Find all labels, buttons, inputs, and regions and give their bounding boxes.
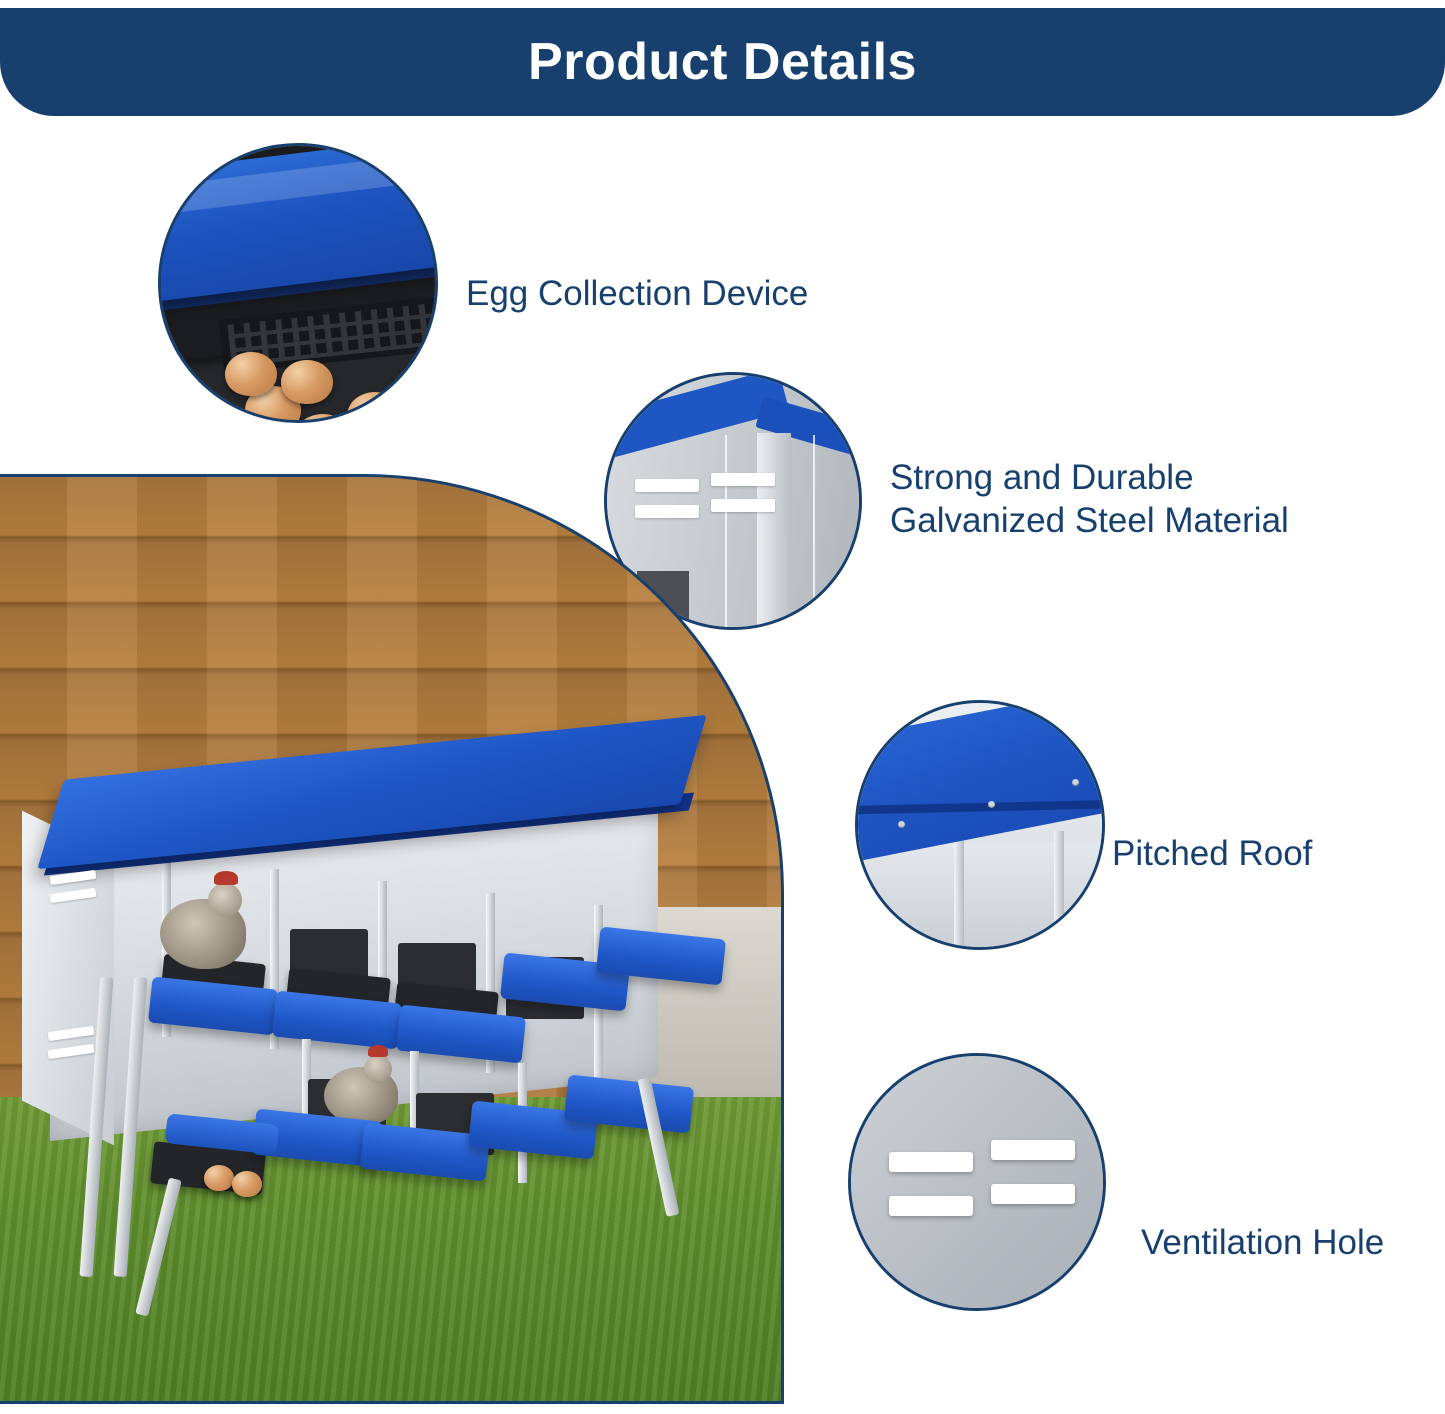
feature-label-ventilation-hole: Ventilation Hole — [1141, 1222, 1384, 1265]
feature-image-ventilation-hole — [848, 1053, 1106, 1311]
rivet — [1072, 779, 1079, 786]
main-product-photo — [0, 474, 784, 1404]
support-post — [1054, 831, 1064, 950]
hen-head — [364, 1055, 392, 1083]
egg — [232, 1171, 262, 1197]
support-leg — [135, 1178, 181, 1317]
panel-seam — [813, 435, 815, 630]
egg — [225, 352, 277, 396]
ventilation-slot — [889, 1152, 973, 1172]
page-title: Product Details — [528, 32, 917, 92]
feature-label-egg-collection: Egg Collection Device — [466, 273, 808, 316]
feature-image-egg-collection — [158, 143, 438, 423]
rivet — [988, 801, 995, 808]
rivet — [898, 821, 905, 828]
feature-label-galvanized-steel: Strong and Durable Galvanized Steel Mate… — [890, 457, 1289, 542]
egg — [281, 360, 333, 404]
header-banner: Product Details — [0, 8, 1445, 116]
egg — [204, 1165, 234, 1191]
hen-head — [208, 883, 242, 917]
product-details-page: Product Details Egg Collection Device St… — [0, 0, 1445, 1414]
support-post — [954, 831, 964, 950]
ventilation-slot — [991, 1184, 1075, 1204]
chicken-nesting-box — [32, 747, 732, 1327]
ventilation-slot — [889, 1196, 973, 1216]
feature-label-pitched-roof: Pitched Roof — [1112, 833, 1312, 876]
hen-comb — [214, 871, 238, 885]
ventilation-panel-background — [851, 1056, 1103, 1308]
feature-image-pitched-roof — [855, 700, 1105, 950]
ventilation-slot — [991, 1140, 1075, 1160]
hen-comb — [368, 1045, 388, 1057]
steel-wall — [858, 843, 1105, 950]
